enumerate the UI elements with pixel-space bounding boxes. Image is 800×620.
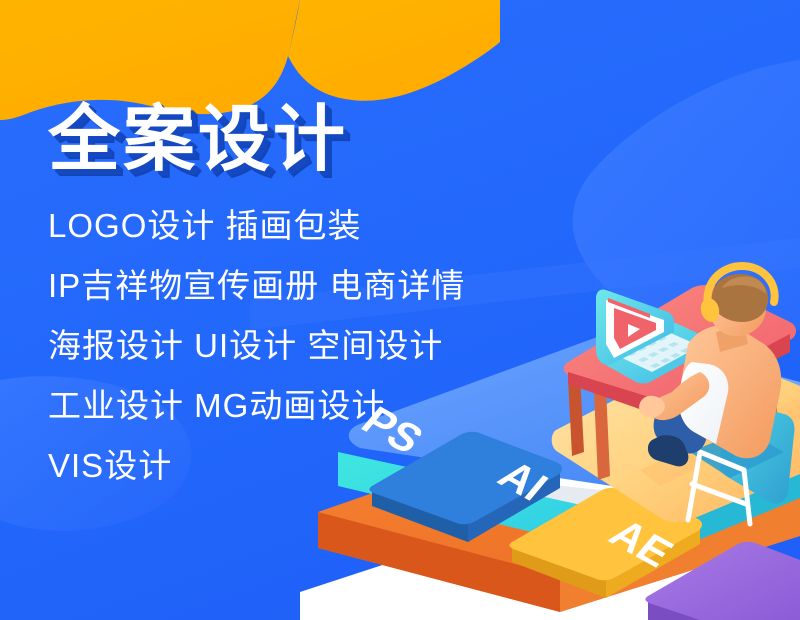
- page-title: 全案设计: [48, 102, 348, 178]
- service-line: IP吉祥物宣传画册 电商详情: [48, 256, 465, 316]
- orange-blob-tail: [288, 0, 500, 101]
- service-list: LOGO设计 插画包装 IP吉祥物宣传画册 电商详情 海报设计 UI设计 空间设…: [48, 196, 465, 496]
- service-line: 工业设计 MG动画设计: [48, 376, 465, 436]
- service-line: LOGO设计 插画包装: [48, 196, 465, 256]
- background-blob-light-right: [573, 60, 800, 336]
- service-line: VIS设计: [48, 436, 465, 496]
- promo-poster: 全案设计 LOGO设计 插画包装 IP吉祥物宣传画册 电商详情 海报设计 UI设…: [0, 0, 800, 620]
- service-line: 海报设计 UI设计 空间设计: [48, 316, 465, 376]
